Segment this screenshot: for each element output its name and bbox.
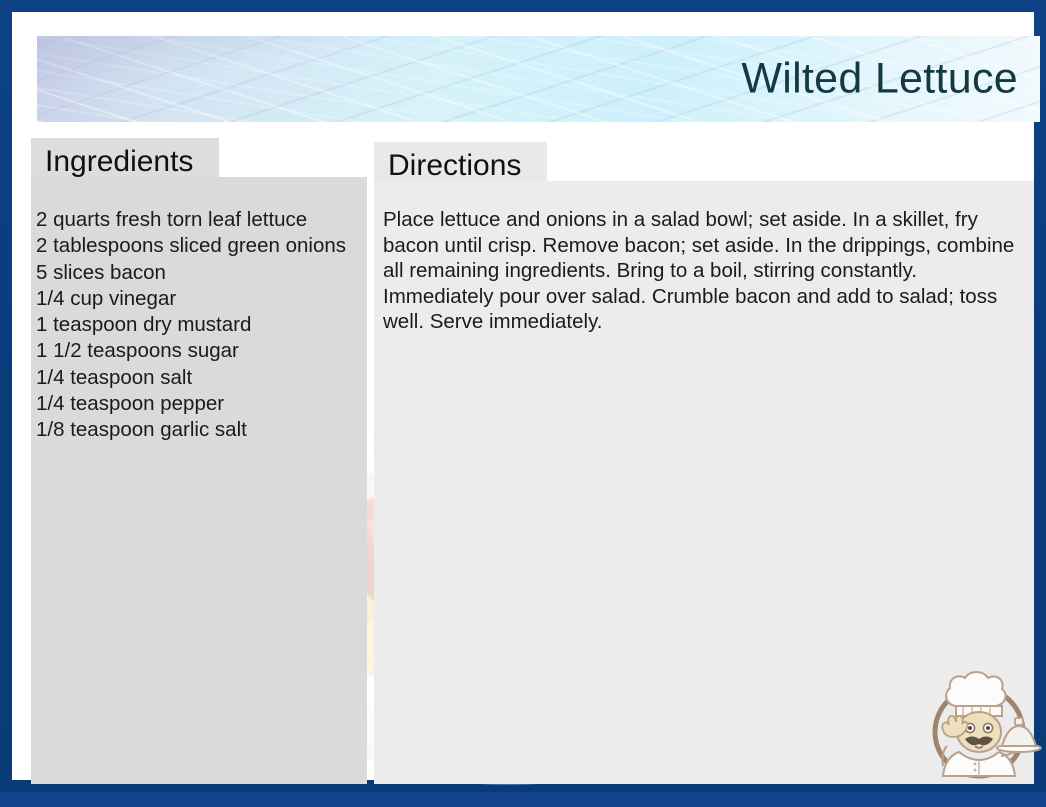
title-banner: Wilted Lettuce — [37, 36, 1040, 122]
list-item: 1/8 teaspoon garlic salt — [36, 417, 361, 443]
recipe-card: Wilted Lettuce — [0, 0, 1046, 792]
ingredients-list: 2 quarts fresh torn leaf lettuce 2 table… — [36, 207, 361, 444]
list-item: 2 tablespoons sliced green onions — [36, 233, 361, 259]
list-item: 1/4 teaspoon pepper — [36, 391, 361, 417]
ingredients-panel: 2 quarts fresh torn leaf lettuce 2 table… — [31, 177, 367, 784]
chef-logo — [915, 660, 1043, 788]
list-item: 5 slices bacon — [36, 260, 361, 286]
directions-text: Place lettuce and onions in a salad bowl… — [383, 207, 1020, 335]
page-title: Wilted Lettuce — [741, 55, 1018, 104]
list-item: 1/4 cup vinegar — [36, 286, 361, 312]
list-item: 1/4 teaspoon salt — [36, 365, 361, 391]
list-item: 2 quarts fresh torn leaf lettuce — [36, 207, 361, 233]
list-item: 1 1/2 teaspoons sugar — [36, 338, 361, 364]
card-inner-surface: Wilted Lettuce — [12, 12, 1034, 780]
list-item: 1 teaspoon dry mustard — [36, 312, 361, 338]
